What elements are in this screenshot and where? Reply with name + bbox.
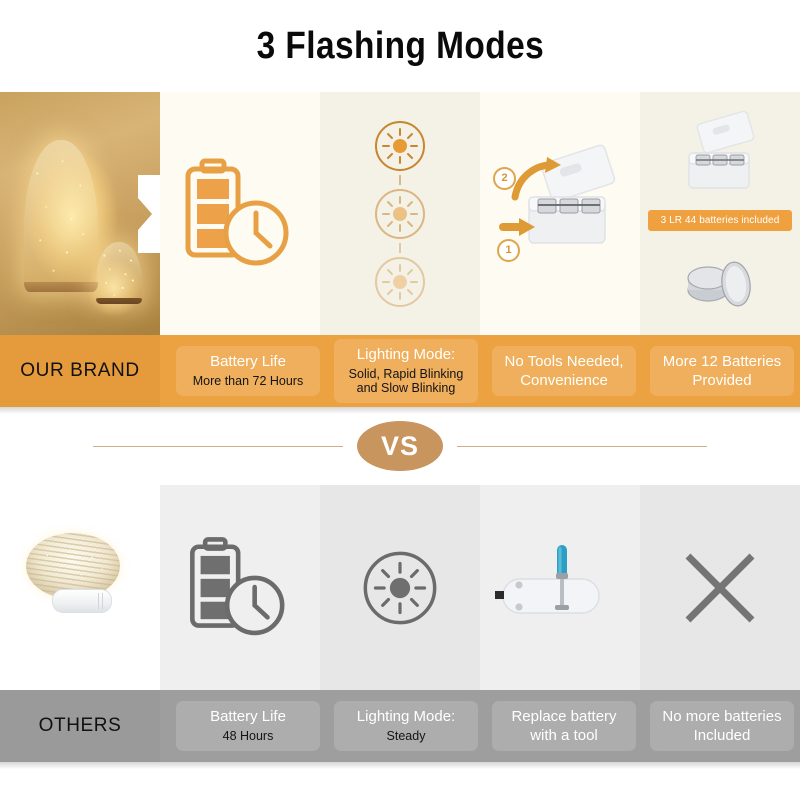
coiled-fairy-light-string-photo — [0, 485, 160, 690]
coin-cell-batteries-icon — [674, 256, 766, 316]
others-replace-battery-icon-cell — [480, 485, 640, 690]
card-title: Battery Life — [180, 353, 316, 371]
chevron-right-icon — [138, 549, 160, 627]
others-product-photo — [0, 485, 160, 690]
our-brand-panels: 2 1 — [0, 92, 800, 335]
others-section: OTHERS Battery Life 48 Hours Lighting Mo… — [0, 485, 800, 762]
wooden-base — [96, 298, 142, 304]
card-title: Replace battery — [496, 708, 632, 726]
vs-line-left — [93, 446, 343, 447]
card-title: Lighting Mode: — [338, 346, 474, 364]
screwdriver-battery-pack-icon — [485, 533, 635, 643]
others-no-batteries-icon-cell — [640, 485, 800, 690]
chevron-right-icon — [138, 175, 160, 253]
card-subtitle: Solid, Rapid Blinking and Slow Blinking — [338, 367, 474, 397]
battery-included-label: 3 LR 44 batteries included — [648, 210, 792, 231]
mode-connector — [398, 243, 402, 253]
page-title: 3 Flashing Modes — [256, 25, 544, 68]
page-header: 3 Flashing Modes — [0, 0, 800, 92]
wooden-base — [24, 282, 98, 292]
battery-box-open-icon: 2 1 — [485, 139, 635, 289]
single-brightness-icon — [361, 549, 439, 627]
others-label: OTHERS — [0, 690, 160, 762]
our-brand-cards: Battery Life More than 72 Hours Lighting… — [160, 335, 800, 407]
battery-life-icon-cell — [160, 92, 320, 335]
batteries-provided-icon-cell: 3 LR 44 batteries included — [640, 92, 800, 335]
card-subtitle: More than 72 Hours — [180, 374, 316, 389]
our-brand-feature-banner: OUR BRAND Battery Life More than 72 Hour… — [0, 335, 800, 407]
card-subtitle: Steady — [338, 729, 474, 744]
card-subtitle: Provided — [654, 372, 790, 390]
fairy-light-sparks — [96, 242, 142, 304]
card-subtitle: with a tool — [496, 727, 632, 745]
brightness-icon-bright — [373, 119, 427, 173]
battery-pack — [52, 589, 112, 613]
card-lighting-mode: Lighting Mode: Steady — [334, 701, 478, 750]
fairy-light-sparks — [24, 140, 98, 292]
brightness-icon-dim — [373, 187, 427, 241]
card-subtitle: Convenience — [496, 372, 632, 390]
card-battery-life: Battery Life 48 Hours — [176, 701, 320, 750]
card-batteries-provided: More 12 Batteries Provided — [650, 346, 794, 396]
card-title: No Tools Needed, — [496, 353, 632, 371]
card-title: No more batteries — [654, 708, 790, 726]
card-subtitle: Included — [654, 727, 790, 745]
battery-box-illustration — [485, 139, 635, 289]
large-glass-dome-lamp — [24, 140, 98, 292]
card-title: Lighting Mode: — [338, 708, 474, 726]
banner-shadow — [0, 762, 800, 769]
step-badge-1: 1 — [497, 239, 520, 262]
card-title: Battery Life — [180, 708, 316, 726]
our-brand-label: OUR BRAND — [0, 335, 160, 407]
others-battery-life-icon-cell — [160, 485, 320, 690]
mode-connector — [398, 175, 402, 185]
cross-x-icon — [678, 546, 762, 630]
others-lighting-mode-icon-cell — [320, 485, 480, 690]
others-cards: Battery Life 48 Hours Lighting Mode: Ste… — [160, 690, 800, 762]
fairy-lights-glass-dome-photo — [0, 92, 160, 335]
vs-divider: VS — [0, 407, 800, 485]
no-tools-icon-cell: 2 1 — [480, 92, 640, 335]
card-replace-battery: Replace battery with a tool — [492, 701, 636, 751]
others-panels — [0, 485, 800, 690]
three-brightness-modes-icon — [373, 119, 427, 309]
our-brand-section: 2 1 — [0, 92, 800, 407]
card-no-tools: No Tools Needed, Convenience — [492, 346, 636, 396]
battery-clock-icon — [185, 528, 295, 648]
battery-clock-icon — [180, 149, 300, 279]
card-lighting-mode: Lighting Mode: Solid, Rapid Blinking and… — [334, 339, 478, 403]
lighting-mode-icon-cell — [320, 92, 480, 335]
vs-badge: VS — [357, 421, 443, 471]
card-battery-life: Battery Life More than 72 Hours — [176, 346, 320, 395]
small-glass-dome-lamp — [96, 242, 142, 304]
others-feature-banner: OTHERS Battery Life 48 Hours Lighting Mo… — [0, 690, 800, 762]
card-title: More 12 Batteries — [654, 353, 790, 371]
brightness-icon-dimmest — [373, 255, 427, 309]
step-badge-2: 2 — [493, 167, 516, 190]
battery-box-small-icon — [665, 108, 775, 204]
vs-line-right — [457, 446, 707, 447]
our-brand-product-photo — [0, 92, 160, 335]
battery-box-and-coin-cells-icon: 3 LR 44 batteries included — [640, 92, 800, 335]
card-no-batteries: No more batteries Included — [650, 701, 794, 751]
card-subtitle: 48 Hours — [180, 729, 316, 744]
